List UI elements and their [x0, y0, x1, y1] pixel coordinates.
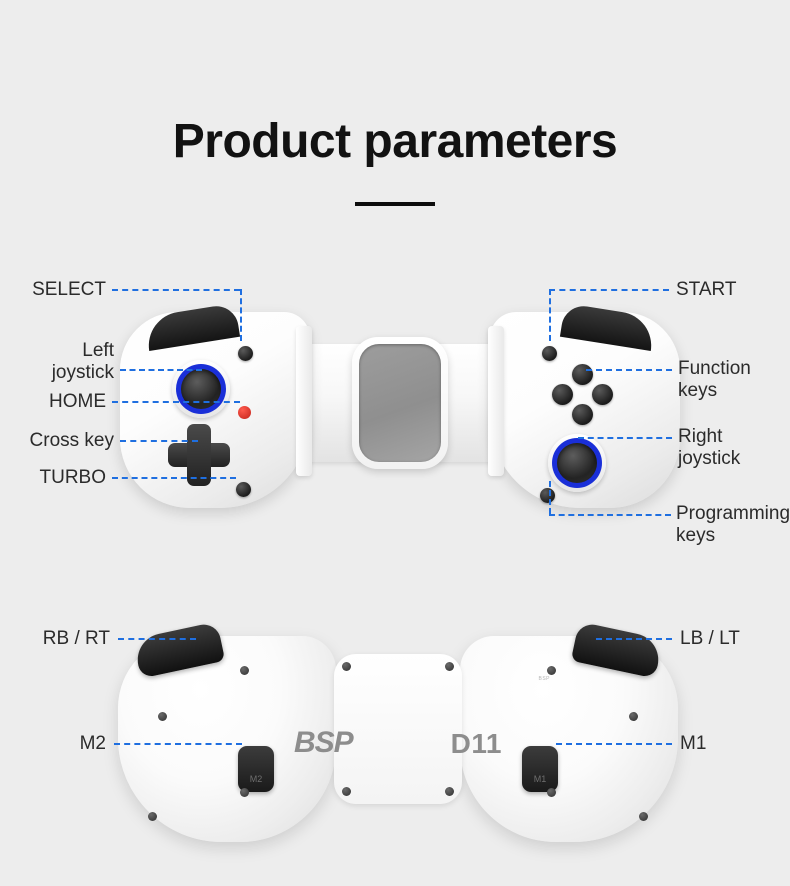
label-left-joystick: Left joystick: [0, 340, 114, 385]
label-home: HOME: [0, 391, 106, 413]
leader-home: [112, 401, 240, 403]
label-rb-rt: RB / RT: [0, 628, 110, 650]
leader-programming-keys-horizontal: [549, 514, 671, 516]
leader-lb-lt: [596, 638, 672, 640]
leader-m1: [556, 743, 672, 745]
screw-dot: [342, 662, 351, 671]
cross-button-icon[interactable]: [572, 404, 593, 425]
m2-paddle-button[interactable]: M2: [238, 746, 274, 792]
select-button[interactable]: [238, 346, 253, 361]
brand-logo: BSP: [294, 726, 353, 760]
screw-dot: [629, 712, 638, 721]
leader-function-keys: [586, 369, 672, 371]
turbo-button[interactable]: [236, 482, 251, 497]
home-button[interactable]: [238, 406, 251, 419]
back-center-plate: [334, 654, 462, 804]
phone-holder-pad: [352, 337, 448, 469]
square-button-icon[interactable]: [552, 384, 573, 405]
screw-dot: [342, 787, 351, 796]
tiny-brand-mark: BSP: [538, 676, 550, 682]
leader-select-horizontal: [112, 289, 240, 291]
label-cross-key: Cross key: [0, 430, 114, 452]
lb-lt-trigger[interactable]: [571, 621, 663, 678]
leader-programming-keys-vertical: [549, 481, 551, 514]
leader-cross-key: [120, 440, 198, 442]
screw-dot: [547, 788, 556, 797]
label-programming-keys: Programming keys: [676, 503, 790, 548]
product-parameters-diagram: Product parameters: [0, 0, 790, 886]
label-m1: M1: [680, 733, 786, 755]
screw-dot: [158, 712, 167, 721]
rb-rt-trigger[interactable]: [133, 621, 225, 678]
label-right-joystick: Right joystick: [678, 426, 790, 471]
controller-back-view: M2 M1 BSP BSP D11: [118, 618, 678, 848]
leader-start-horizontal: [549, 289, 669, 291]
left-shoulder-bumper[interactable]: [144, 303, 240, 351]
right-shoulder-bumper[interactable]: [560, 303, 656, 351]
label-lb-lt: LB / LT: [680, 628, 790, 650]
right-slider-rail: [488, 326, 504, 476]
leader-right-joystick: [578, 437, 672, 439]
circle-button-icon[interactable]: [592, 384, 613, 405]
leader-rb-rt: [118, 638, 196, 640]
right-grip: [490, 312, 680, 508]
label-select: SELECT: [0, 279, 106, 301]
leader-turbo: [112, 477, 236, 479]
screw-dot: [240, 788, 249, 797]
screw-dot: [547, 666, 556, 675]
controller-front-view: [120, 300, 680, 530]
label-m2: M2: [0, 733, 106, 755]
screw-dot: [445, 787, 454, 796]
screw-dot: [445, 662, 454, 671]
triangle-button-icon[interactable]: [572, 364, 593, 385]
leader-select-vertical: [240, 289, 242, 341]
screw-dot: [240, 666, 249, 675]
right-joystick[interactable]: [548, 434, 606, 492]
label-turbo: TURBO: [0, 467, 106, 489]
model-name: D11: [451, 728, 502, 760]
programming-key-button[interactable]: [540, 488, 555, 503]
start-button[interactable]: [542, 346, 557, 361]
label-start: START: [676, 279, 790, 301]
m1-paddle-button[interactable]: M1: [522, 746, 558, 792]
label-function-keys: Function keys: [678, 358, 790, 403]
screw-dot: [639, 812, 648, 821]
leader-m2: [114, 743, 242, 745]
leader-left-joystick: [120, 369, 202, 371]
function-keys-cluster[interactable]: [552, 364, 614, 426]
screw-dot: [148, 812, 157, 821]
left-slider-rail: [296, 326, 312, 476]
leader-start-vertical: [549, 289, 551, 341]
title-underline: [355, 202, 435, 206]
page-title: Product parameters: [0, 118, 790, 166]
